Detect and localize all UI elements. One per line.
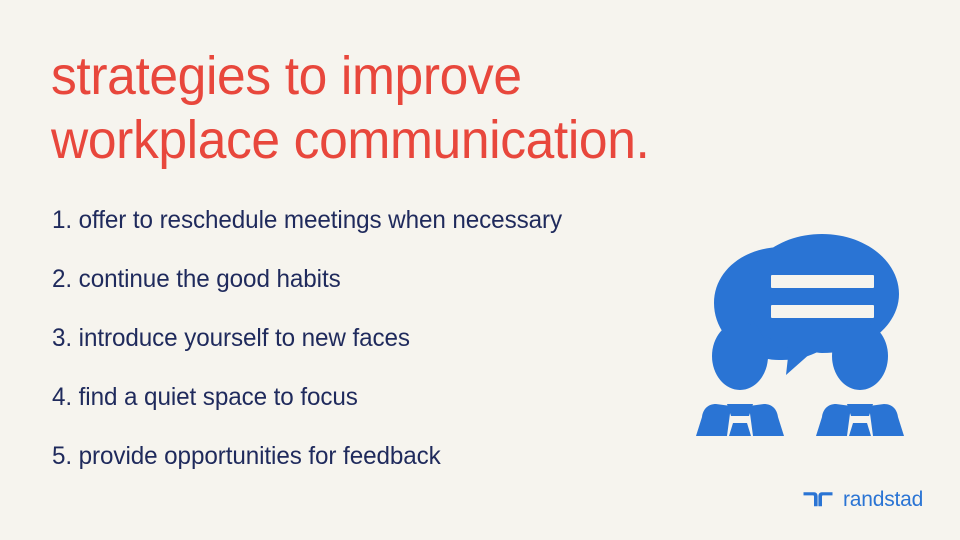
page-title: strategies to improve workplace communic… [51,44,815,172]
slide: strategies to improve workplace communic… [0,0,960,540]
headline-line-1: strategies to improve [51,44,815,108]
speech-bubble-line-2 [771,305,874,318]
randstad-wordmark: randstad [843,489,923,510]
list-item: 2. continue the good habits [52,264,653,294]
randstad-mark-icon [803,490,833,508]
list-item: 4. find a quiet space to focus [52,382,653,412]
speech-bubble-line-1 [771,275,874,288]
list-item: 3. introduce yourself to new faces [52,323,653,353]
strategies-list: 1. offer to reschedule meetings when nec… [52,205,672,500]
two-people-speech-bubbles-illustration [686,228,916,438]
randstad-logo: randstad [803,485,923,513]
headline-line-2: workplace communication. [51,108,815,172]
list-item: 5. provide opportunities for feedback [52,441,653,471]
list-item: 1. offer to reschedule meetings when nec… [52,205,653,235]
